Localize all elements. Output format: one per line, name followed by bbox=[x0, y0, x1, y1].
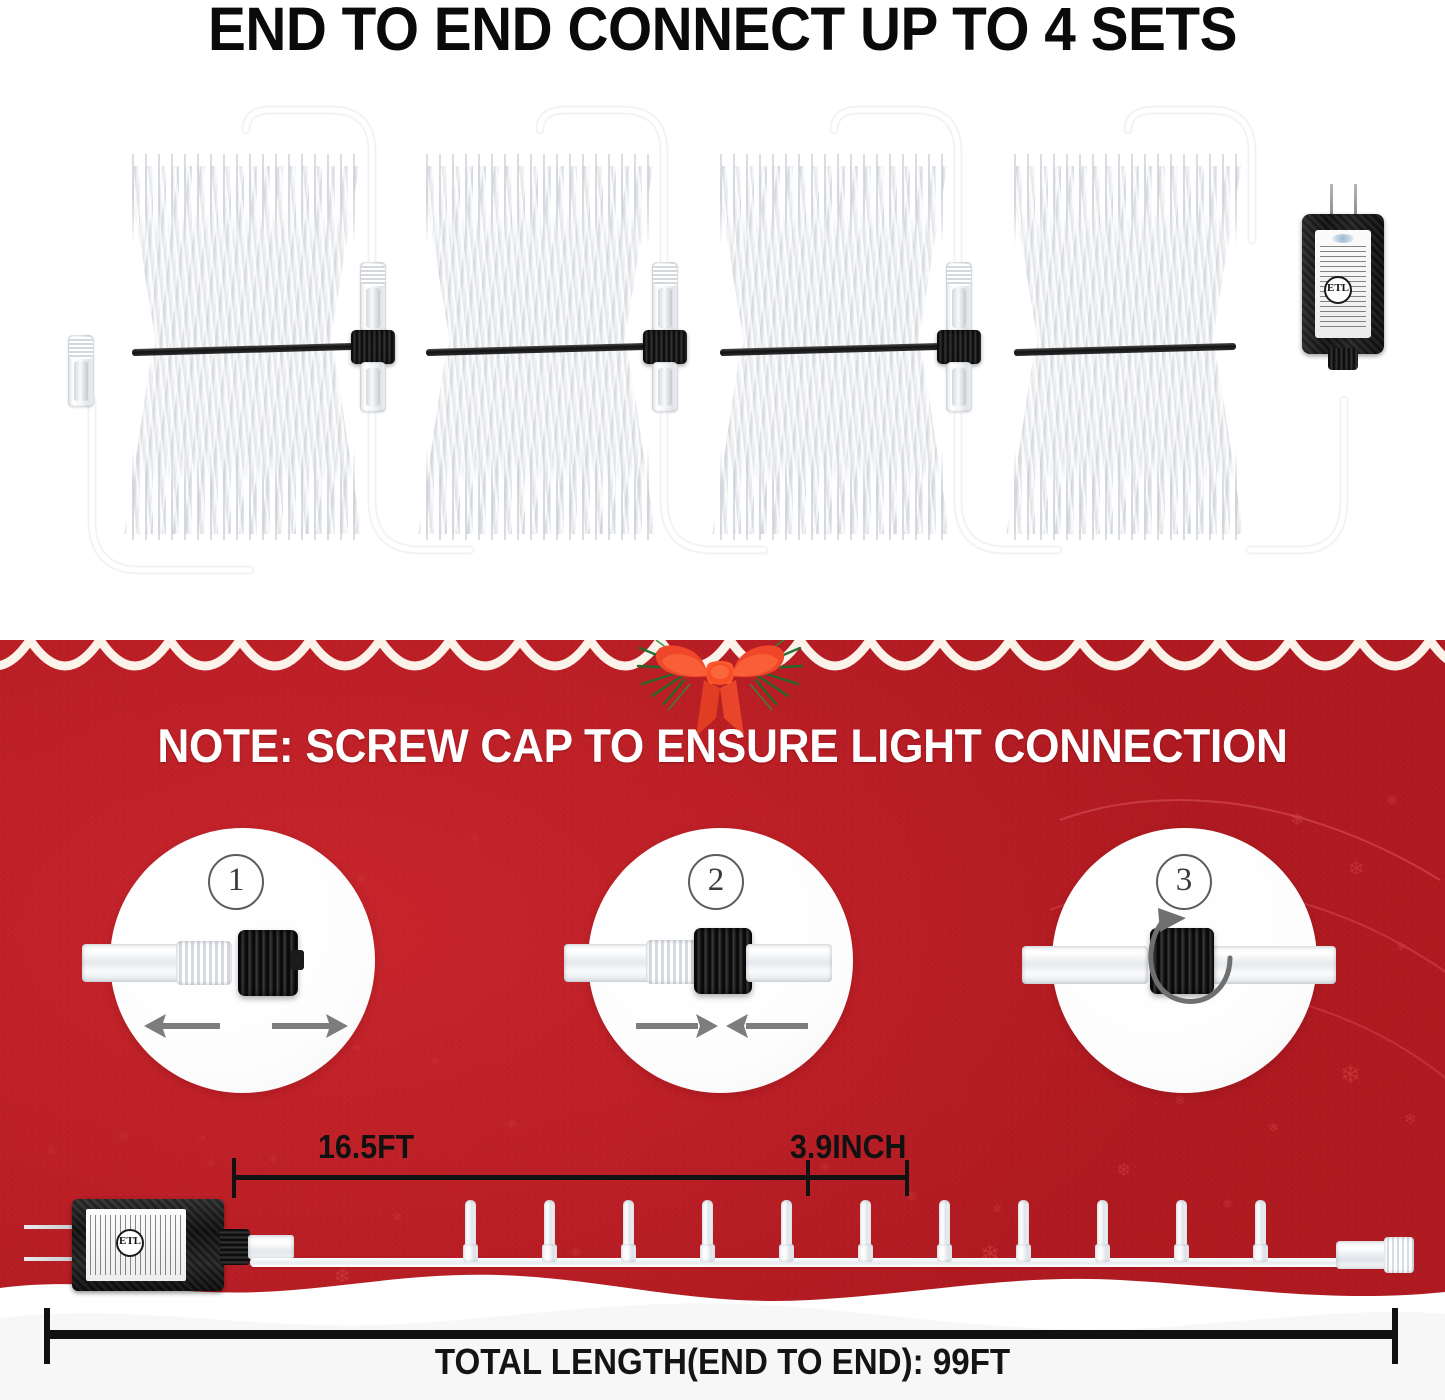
connector-thread bbox=[69, 337, 93, 359]
black-screw-cap-icon bbox=[1328, 348, 1358, 370]
rotate-arrow-icon bbox=[1138, 894, 1248, 1014]
connector-core bbox=[952, 288, 966, 328]
connector-thread bbox=[361, 264, 385, 286]
connector-core bbox=[658, 288, 672, 328]
note-title: NOTE: SCREW CAP TO ENSURE LIGHT CONNECTI… bbox=[43, 718, 1401, 774]
connector-body bbox=[1336, 1241, 1388, 1269]
plug-prong-left bbox=[1330, 184, 1333, 214]
connector-thread bbox=[947, 264, 971, 286]
etl-mark: ETL bbox=[1324, 276, 1352, 304]
connector-thread bbox=[176, 941, 232, 985]
light-string-wire bbox=[250, 1258, 1390, 1267]
black-screw-cap-icon bbox=[238, 930, 298, 996]
black-screw-cap-icon bbox=[694, 928, 752, 994]
clear-connector-icon bbox=[652, 362, 678, 412]
bulb-base bbox=[700, 1244, 715, 1262]
clear-connector-icon bbox=[1022, 946, 1148, 984]
led-bulb-icon bbox=[1095, 1200, 1110, 1262]
bulb-base bbox=[542, 1244, 557, 1262]
coiled-wire bbox=[706, 150, 956, 550]
led-bulb-icon bbox=[1016, 1200, 1031, 1262]
bulb-base bbox=[937, 1244, 952, 1262]
led-bulb-icon bbox=[858, 1200, 873, 1262]
black-screw-cap-icon bbox=[643, 330, 687, 364]
bulb-base bbox=[1174, 1244, 1189, 1262]
plug-prong-bottom bbox=[24, 1257, 76, 1261]
led-bulb-icon bbox=[621, 1200, 636, 1262]
power-adapter-icon: ETL bbox=[72, 1199, 272, 1291]
led-bulb-icon bbox=[779, 1200, 794, 1262]
clear-connector-icon bbox=[746, 944, 832, 982]
connector-core bbox=[366, 288, 380, 328]
clear-connector-icon bbox=[1336, 1235, 1414, 1275]
power-adapter-icon: ETL bbox=[1302, 214, 1384, 364]
bulb-spacing-label: 3.9INCH bbox=[790, 1128, 906, 1166]
bulb-fringe-top bbox=[124, 154, 362, 246]
arrows-apart-icon bbox=[136, 1006, 356, 1046]
clear-connector-icon bbox=[652, 262, 678, 334]
light-bundle-4 bbox=[1000, 150, 1250, 550]
cap-tip bbox=[290, 950, 304, 970]
coiled-wire bbox=[412, 150, 662, 550]
clear-connector-icon bbox=[360, 262, 386, 334]
led-bulb-icon bbox=[700, 1200, 715, 1262]
connector-thread bbox=[1384, 1237, 1414, 1273]
clear-connector-icon bbox=[946, 262, 972, 334]
bulb-base bbox=[1095, 1244, 1110, 1262]
plug-prong-right bbox=[1354, 184, 1357, 214]
bulb-fringe-bottom bbox=[1006, 448, 1244, 540]
light-bundle-2 bbox=[412, 150, 662, 550]
etl-mark: ETL bbox=[116, 1229, 144, 1257]
page-title: END TO END CONNECT UP TO 4 SETS bbox=[51, 0, 1395, 62]
connector-thread bbox=[653, 264, 677, 286]
light-bundle-3 bbox=[706, 150, 956, 550]
black-screw-cap-icon bbox=[351, 330, 395, 364]
connector-core bbox=[74, 361, 88, 401]
led-bulb-icon bbox=[1174, 1200, 1189, 1262]
step-1-pull-apart: 1 bbox=[110, 828, 375, 1093]
bulb-fringe-top bbox=[1006, 154, 1244, 246]
connector-core bbox=[952, 368, 966, 406]
bulb-base bbox=[858, 1244, 873, 1262]
brand-logo-icon bbox=[1332, 234, 1354, 243]
bulb-base bbox=[463, 1244, 478, 1262]
led-bulb-icon bbox=[463, 1200, 478, 1262]
bulb-base bbox=[621, 1244, 636, 1262]
plug-prong-top bbox=[24, 1225, 76, 1229]
clear-connector-icon bbox=[68, 335, 94, 407]
step-2-push-together: 2 bbox=[588, 828, 853, 1093]
step-number: 1 bbox=[208, 854, 264, 910]
bulb-base bbox=[779, 1244, 794, 1262]
clear-connector-icon bbox=[564, 944, 652, 982]
arrows-together-icon bbox=[622, 1006, 822, 1046]
connector-core bbox=[658, 368, 672, 406]
bulb-fringe-bottom bbox=[418, 448, 656, 540]
step-number: 2 bbox=[688, 854, 744, 910]
connector-core bbox=[366, 368, 380, 406]
black-screw-cap-icon bbox=[220, 1229, 250, 1265]
clear-connector-icon bbox=[360, 362, 386, 412]
clear-connector-icon bbox=[82, 944, 182, 982]
led-bulb-icon bbox=[542, 1200, 557, 1262]
total-length-label: TOTAL LENGTH(END TO END): 99FT bbox=[58, 1340, 1387, 1384]
coiled-wire bbox=[118, 150, 368, 550]
top-white-section: END TO END CONNECT UP TO 4 SETS bbox=[0, 0, 1445, 640]
bulb-fringe-bottom bbox=[712, 448, 950, 540]
connector-thread bbox=[646, 940, 700, 984]
led-bulb-icon bbox=[1253, 1200, 1268, 1262]
bulb-fringe-top bbox=[712, 154, 950, 246]
lead-length-label: 16.5FT bbox=[318, 1128, 414, 1166]
clear-connector-icon bbox=[248, 1235, 294, 1259]
product-infographic: END TO END CONNECT UP TO 4 SETS bbox=[0, 0, 1445, 1400]
bulb-fringe-bottom bbox=[124, 448, 362, 540]
coiled-wire bbox=[1000, 150, 1250, 550]
bulb-base bbox=[1016, 1244, 1031, 1262]
clear-connector-icon bbox=[946, 362, 972, 412]
light-bundle-1 bbox=[118, 150, 368, 550]
led-bulb-icon bbox=[937, 1200, 952, 1262]
bulb-base bbox=[1253, 1244, 1268, 1262]
step-3-screw-tighten: 3 bbox=[1052, 828, 1317, 1093]
black-screw-cap-icon bbox=[937, 330, 981, 364]
bulb-fringe-top bbox=[418, 154, 656, 246]
